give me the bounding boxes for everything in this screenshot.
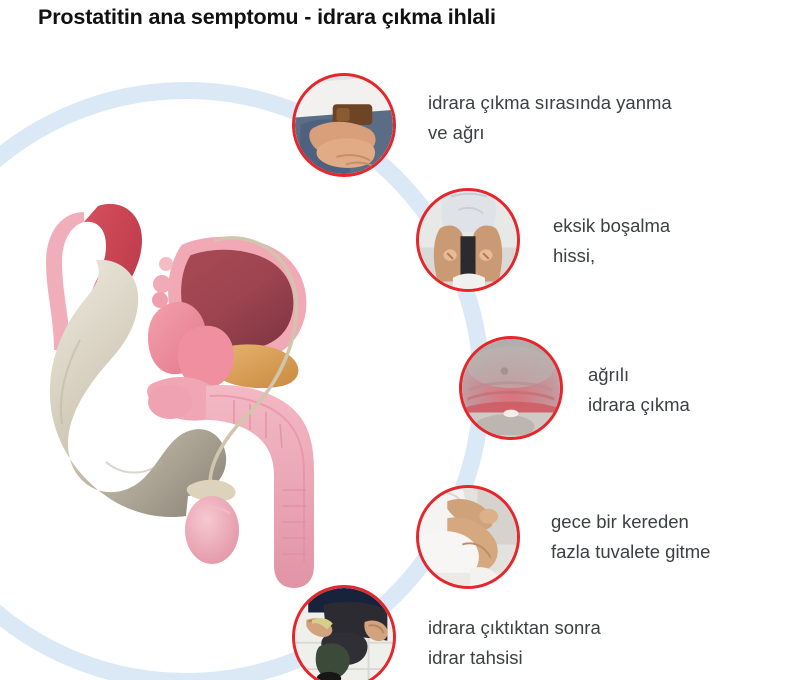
caption-burning-pain-urination: idrara çıkma sırasında yanma ve ağrı: [428, 88, 672, 148]
prostatitis-symptoms-infographic: Prostatitin ana semptomu - idrara çıkma …: [0, 0, 799, 680]
caption-post-void-dribbling: idrara çıktıktan sonra idrar tahsisi: [428, 613, 601, 673]
thumbnail-burning-pain-urination[interactable]: [292, 73, 396, 177]
thumbnail-post-void-dribbling[interactable]: [292, 585, 396, 680]
thumbnail-nocturia[interactable]: [416, 485, 520, 589]
caption-nocturia: gece bir kereden fazla tuvalete gitme: [551, 507, 710, 567]
page-title: Prostatitin ana semptomu - idrara çıkma …: [38, 5, 496, 30]
caption-incomplete-emptying: eksik boşalma hissi,: [553, 211, 670, 271]
anatomy-illustration: [10, 200, 350, 620]
thumbnail-incomplete-emptying[interactable]: [416, 188, 520, 292]
caption-painful-urination: ağrılı idrara çıkma: [588, 360, 690, 420]
thumbnail-painful-urination[interactable]: [459, 336, 563, 440]
